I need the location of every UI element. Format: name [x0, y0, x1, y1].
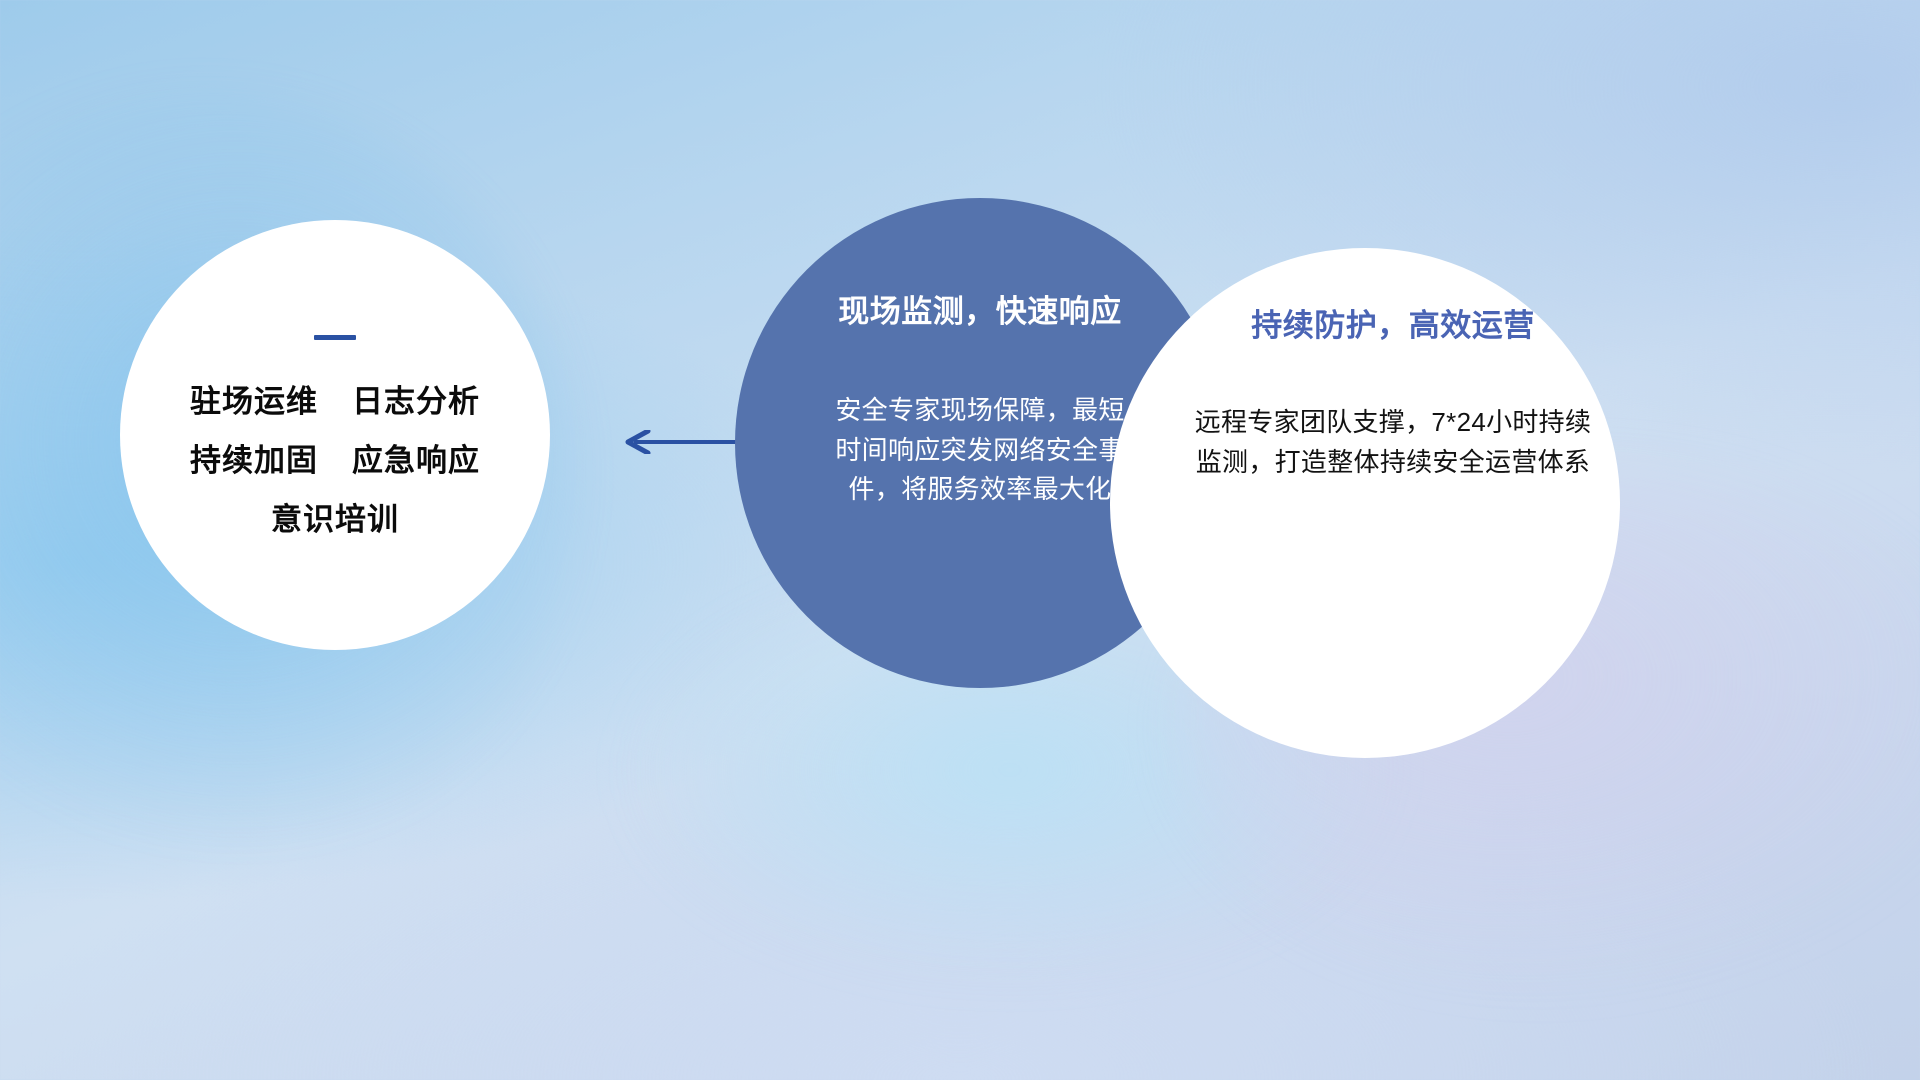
continuous-protection-heading: 持续防护，高效运营	[1251, 300, 1535, 345]
onsite-capabilities-content: 驻场运维 日志分析 持续加固 应急响应 意识培训	[120, 220, 550, 650]
capability-row-2: 持续加固 应急响应	[190, 445, 480, 476]
capability-label-continuous-hardening: 持续加固	[190, 445, 318, 476]
capability-label-log-analysis: 日志分析	[352, 386, 480, 417]
capability-label-awareness-training: 意识培训	[271, 504, 399, 535]
divider-dash-icon	[314, 335, 356, 340]
onsite-monitoring-heading: 现场监测，快速响应	[838, 286, 1122, 331]
continuous-protection-content: 持续防护，高效运营 远程专家团队支撑，7*24小时持续监测，打造整体持续安全运营…	[1110, 248, 1620, 758]
slide-canvas: 驻场运维 日志分析 持续加固 应急响应 意识培训 现场监测，快速响应 安全专家现…	[0, 0, 1920, 1080]
continuous-protection-body: 远程专家团队支撑，7*24小时持续监测，打造整体持续安全运营体系	[1193, 403, 1593, 482]
capability-label-onsite-ops: 驻场运维	[190, 386, 318, 417]
capability-label-emergency-response: 应急响应	[352, 445, 480, 476]
onsite-monitoring-body: 安全专家现场保障，最短时间响应突发网络安全事件，将服务效率最大化	[830, 391, 1130, 510]
capability-row-1: 驻场运维 日志分析	[190, 386, 480, 417]
capability-row-3: 意识培训	[271, 504, 399, 535]
